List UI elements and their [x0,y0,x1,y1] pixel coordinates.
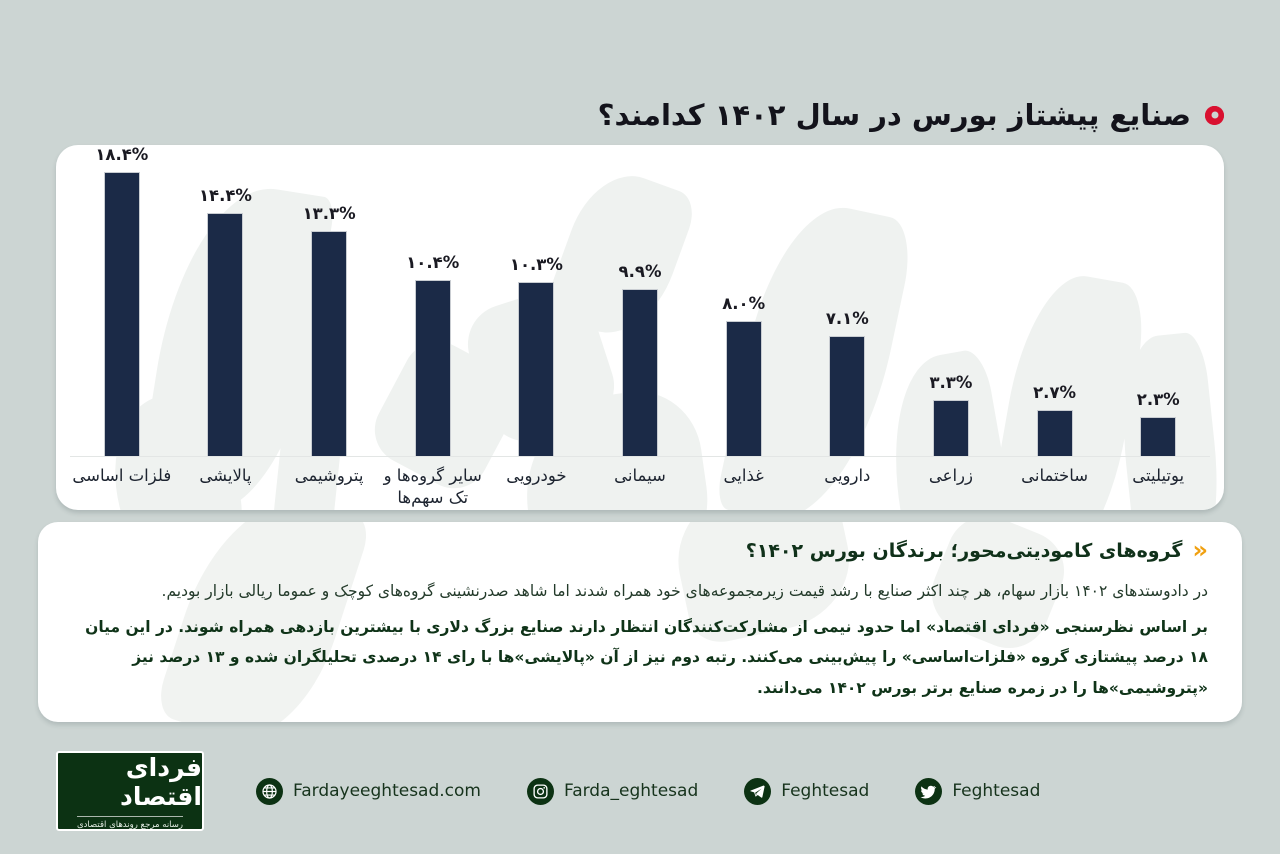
bar[interactable] [518,282,554,456]
double-chevron-icon: « [1192,538,1208,562]
bar[interactable] [829,336,865,456]
social-link[interactable]: Farda_eghtesad [527,778,698,805]
bar[interactable] [622,289,658,456]
instagram-icon[interactable] [527,778,554,805]
bar-slot[interactable]: ۱۴.۴% [174,145,278,456]
social-handle: Farda_eghtesad [564,781,698,801]
social-links: Fardayeeghtesad.comFarda_eghtesadFeghtes… [256,778,1040,805]
category-label: یوتیلیتی [1106,465,1210,510]
bar[interactable] [933,400,969,456]
page-title: صنایع پیشتاز بورس در سال ۱۴۰۲ کدامند؟ [598,98,1191,132]
globe-icon[interactable] [256,778,283,805]
bar-value-label: ۷.۱% [826,309,869,328]
bar-value-label: ۸.۰% [722,294,765,313]
bar[interactable] [415,280,451,456]
bar-slot[interactable]: ۸.۰% [692,145,796,456]
analysis-subheading: گروه‌های کامودیتی‌محور؛ برندگان بورس ۱۴۰… [746,540,1183,562]
analysis-card: « گروه‌های کامودیتی‌محور؛ برندگان بورس ۱… [38,522,1242,722]
bar-value-label: ۲.۷% [1033,383,1076,402]
bar-value-label: ۱۰.۴% [406,253,459,272]
bar[interactable] [1140,417,1176,456]
footer: فردای اقتصاد رسانه مرجع روندهای اقتصادی … [56,745,1226,837]
bar[interactable] [311,231,347,456]
bar-value-label: ۱۳.۳% [303,204,356,223]
bar-value-label: ۱۸.۴% [95,145,148,164]
social-link[interactable]: Fardayeeghtesad.com [256,778,481,805]
bar-value-label: ۱۴.۴% [199,186,252,205]
category-label: غذایی [692,465,796,510]
brand-logo-name: فردای اقتصاد [58,753,202,811]
bar-slot[interactable]: ۹.۹% [588,145,692,456]
bar-value-label: ۹.۹% [619,262,662,281]
bar-slot[interactable]: ۱۳.۳% [277,145,381,456]
category-label: زراعی [899,465,1003,510]
bar-slot[interactable]: ۱۸.۴% [70,145,174,456]
bullet-dot-icon [1205,106,1224,125]
social-link[interactable]: Feghtesad [915,778,1040,805]
bar-slot[interactable]: ۱۰.۴% [381,145,485,456]
social-handle: Feghtesad [952,781,1040,801]
bar-slot[interactable]: ۷.۱% [795,145,899,456]
bar-slot[interactable]: ۱۰.۳% [485,145,589,456]
analysis-paragraph-2: بر اساس نظرسنجی «فردای اقتصاد» اما حدود … [72,612,1208,703]
category-label: خودرویی [485,465,589,510]
chart-baseline [70,456,1210,457]
analysis-subheading-row: « گروه‌های کامودیتی‌محور؛ برندگان بورس ۱… [72,540,1208,562]
social-handle: Fardayeeghtesad.com [293,781,481,801]
category-label: ساختمانی [1003,465,1107,510]
social-link[interactable]: Feghtesad [744,778,869,805]
category-label: دارویی [795,465,899,510]
category-label: سایر گروه‌ها و تک سهم‌ها [381,465,485,510]
bar-slot[interactable]: ۳.۳% [899,145,1003,456]
brand-logo-tagline: رسانه مرجع روندهای اقتصادی [77,816,183,830]
category-axis: فلزات اساسیپالایشیپتروشیمیسایر گروه‌ها و… [70,465,1210,510]
twitter-icon[interactable] [915,778,942,805]
brand-logo: فردای اقتصاد رسانه مرجع روندهای اقتصادی [56,751,204,831]
telegram-icon[interactable] [744,778,771,805]
bar[interactable] [207,213,243,456]
social-handle: Feghtesad [781,781,869,801]
bar-series: ۱۸.۴%۱۴.۴%۱۳.۳%۱۰.۴%۱۰.۳%۹.۹%۸.۰%۷.۱%۳.۳… [70,145,1210,456]
bar-value-label: ۳.۳% [929,373,972,392]
bar[interactable] [104,172,140,456]
page-title-row: صنایع پیشتاز بورس در سال ۱۴۰۲ کدامند؟ [56,86,1224,144]
category-label: پتروشیمی [277,465,381,510]
bar[interactable] [1037,410,1073,456]
bar-slot[interactable]: ۲.۷% [1003,145,1107,456]
category-label: سیمانی [588,465,692,510]
category-label: پالایشی [174,465,278,510]
chart-card: ۱۸.۴%۱۴.۴%۱۳.۳%۱۰.۴%۱۰.۳%۹.۹%۸.۰%۷.۱%۳.۳… [56,145,1224,510]
analysis-paragraph-1: در دادوستدهای ۱۴۰۲ بازار سهام، هر چند اک… [72,576,1208,606]
bar-value-label: ۱۰.۳% [510,255,563,274]
bar-chart-plot: ۱۸.۴%۱۴.۴%۱۳.۳%۱۰.۴%۱۰.۳%۹.۹%۸.۰%۷.۱%۳.۳… [56,145,1224,510]
bar-slot[interactable]: ۲.۳% [1106,145,1210,456]
category-label: فلزات اساسی [70,465,174,510]
bar[interactable] [726,321,762,456]
bar-value-label: ۲.۳% [1137,390,1180,409]
